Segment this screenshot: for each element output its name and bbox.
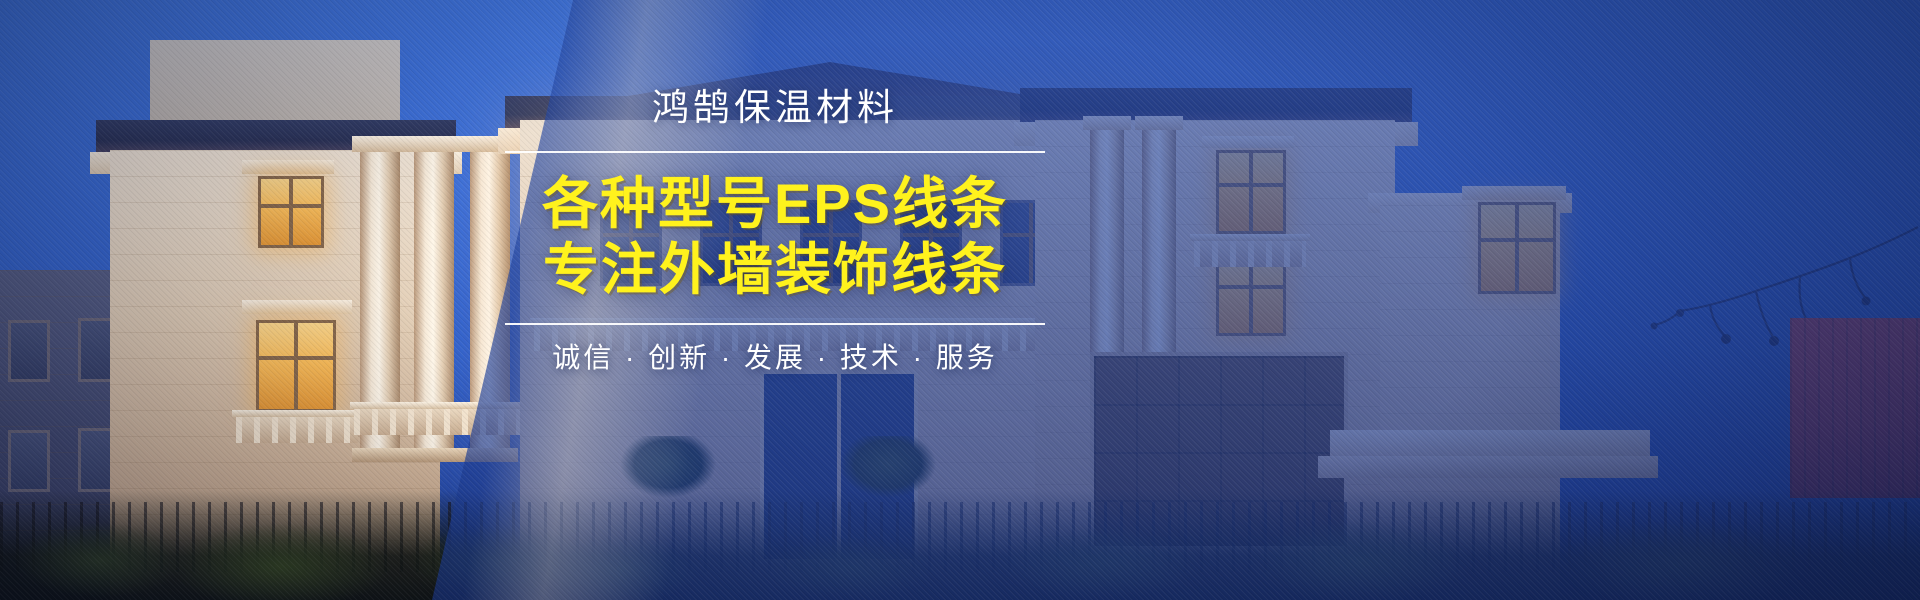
divider-bottom [505, 323, 1045, 325]
banner-copy-block: 鸿鹄保温材料 各种型号EPS线条 专注外墙装饰线条 诚信 · 创新 · 发展 ·… [505, 88, 1045, 374]
headline-line-2: 专注外墙装饰线条 [505, 237, 1045, 303]
divider-top [505, 151, 1045, 153]
tagline: 诚信 · 创新 · 发展 · 技术 · 服务 [505, 341, 1045, 375]
brand-name: 鸿鹄保温材料 [505, 88, 1045, 129]
hero-banner: 鸿鹄保温材料 各种型号EPS线条 专注外墙装饰线条 诚信 · 创新 · 发展 ·… [0, 0, 1920, 600]
headline-line-1: 各种型号EPS线条 [505, 171, 1045, 237]
